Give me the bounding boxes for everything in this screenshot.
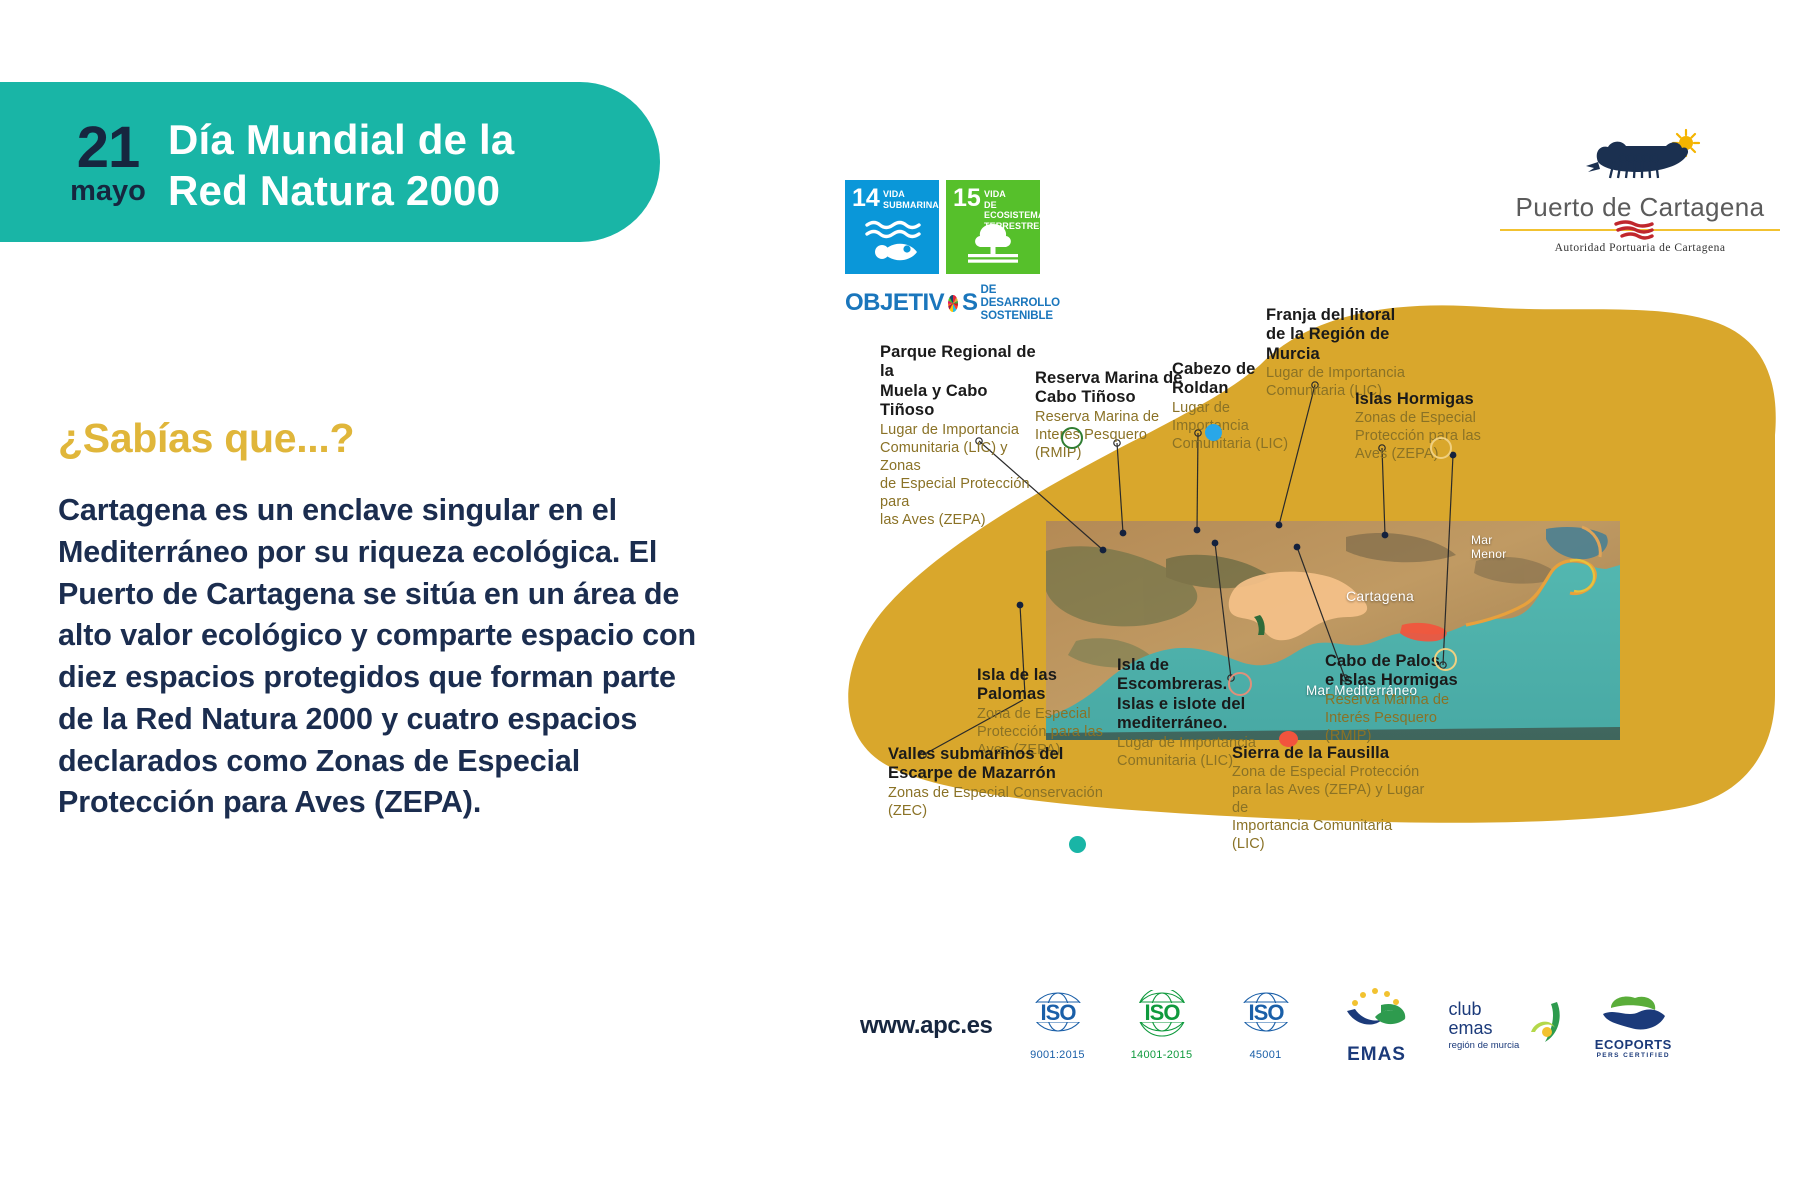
callout-title: Parque Regional de laMuela y Cabo Tiñoso (880, 343, 1045, 421)
callout-title: Isla de las Palomas (977, 666, 1127, 705)
callout-parque-regional-muela-cabo-tinoso: Parque Regional de laMuela y Cabo Tiñoso… (880, 343, 1045, 530)
callout-subtitle: Lugar de ImportanciaComunitaria (LIC) y … (880, 422, 1045, 530)
page-title: Día Mundial de la Red Natura 2000 (168, 114, 514, 216)
callout-subtitle: Reserva Marina deInterés Pesquero (RMIP) (1035, 409, 1195, 463)
port-logo-subtitle: Autoridad Portuaria de Cartagena (1490, 242, 1790, 254)
website-url[interactable]: www.apc.es (860, 1012, 993, 1040)
cert-label: ECOPORTS (1591, 1037, 1675, 1052)
callout-title: Islas Hormigas (1355, 390, 1490, 409)
sdg-14-number: 14 (852, 186, 880, 211)
callout-sierra-de-la-fausilla: Sierra de la Fausilla Zona de Especial P… (1232, 744, 1427, 854)
svg-text:ISO: ISO (1248, 1000, 1284, 1025)
callout-title: Sierra de la Fausilla (1232, 744, 1427, 763)
cert-iso-9001: ISO 9001:2015 (1019, 990, 1097, 1061)
cert-label: 14001-2015 (1123, 1049, 1201, 1061)
svg-text:ISO: ISO (1144, 1000, 1180, 1025)
marker-dot-sierra-de-la-fausilla (1279, 731, 1298, 747)
callout-title: Reserva Marina deCabo Tiñoso (1035, 369, 1195, 408)
sdg-goal-14-card: 14 VIDA SUBMARINA (845, 180, 939, 274)
port-authority-logo: Puerto de Cartagena Autoridad Portuaria … (1490, 128, 1790, 254)
cert-label: EMAS (1331, 1044, 1423, 1066)
callout-subtitle: Lugar de ImportanciaComunitaria (LIC) (1172, 400, 1302, 454)
callout-title: Valles submarinos delEscarpe de Mazarrón (888, 745, 1103, 784)
marker-ring-reserva-marina (1061, 427, 1083, 449)
footer-bar: www.apc.es ISO 9001:2015 ISO 14001-2015 (860, 985, 1740, 1066)
red-wave-icon (1600, 218, 1680, 240)
sdg-14-label: VIDA SUBMARINA (883, 189, 939, 210)
tree-ground-icon (946, 221, 1040, 268)
callout-reserva-marina-cabo-tinoso: Reserva Marina deCabo Tiñoso Reserva Mar… (1035, 369, 1195, 463)
callout-subtitle: Zona de Especial Protecciónpara las Aves… (1232, 764, 1427, 854)
date-month: mayo (58, 177, 158, 206)
date-day: 21 (58, 120, 158, 175)
kicker-heading: ¿Sabías que...? (58, 415, 354, 462)
marker-dot-cabezo-de-roldan (1205, 424, 1222, 441)
cert-sublabel: región de murcia (1449, 1040, 1520, 1051)
port-logo-rule (1500, 229, 1780, 231)
marker-ring-isla-de-escombreras (1228, 672, 1252, 696)
callout-franja-litoral-region-murcia: Franja del litoralde la Región deMurcia … (1266, 306, 1416, 401)
cert-label: clubemas (1449, 1000, 1520, 1038)
marker-dot-isla-de-las-palomas (1069, 836, 1086, 853)
sdg-goal-15-card: 15 VIDA DE ECOSISTEMAS TERRESTRES (946, 180, 1040, 274)
cert-club-emas: clubemas región de murcia (1449, 1000, 1566, 1052)
cert-label: 9001:2015 (1019, 1049, 1097, 1061)
ecoports-mark-icon (1591, 992, 1675, 1032)
cert-iso-45001: ISO 45001 (1227, 990, 1305, 1061)
cert-emas: EMAS (1331, 985, 1423, 1066)
callout-subtitle: Zonas de Especial Conservación(ZEC) (888, 785, 1103, 821)
date-block: 21 mayo (58, 120, 158, 206)
callout-valles-submarinos-escarpe-mazarron: Valles submarinos delEscarpe de Mazarrón… (888, 745, 1103, 821)
map-label-mar-menor: MarMenor (1471, 534, 1507, 562)
body-paragraph: Cartagena es un enclave singular en el M… (58, 490, 718, 824)
galley-prow (1586, 162, 1600, 172)
svg-text:ISO: ISO (1040, 1000, 1076, 1025)
cert-label: 45001 (1227, 1049, 1305, 1061)
title-line-2: Red Natura 2000 (168, 165, 514, 216)
marker-ring-islas-hormigas (1430, 437, 1452, 459)
callout-islas-hormigas: Islas Hormigas Zonas de EspecialProtecci… (1355, 390, 1490, 464)
cert-iso-14001: ISO 14001-2015 (1123, 990, 1201, 1061)
callout-title: Franja del litoralde la Región deMurcia (1266, 306, 1416, 364)
callout-subtitle: Reserva Marina deInterés Pesquero(RMIP) (1325, 692, 1475, 746)
fish-waves-icon (845, 217, 939, 268)
marker-ring-cabo-de-palos (1434, 648, 1457, 671)
roman-galley-ship-icon (1490, 128, 1790, 190)
cert-ecoports: ECOPORTS PERS CERTIFIED (1591, 992, 1675, 1059)
map-label-cartagena: Cartagena (1346, 588, 1414, 604)
leaf-swirl-icon (1523, 1000, 1565, 1052)
title-line-1: Día Mundial de la (168, 114, 514, 165)
callout-subtitle: Zonas de EspecialProtección para lasAves… (1355, 410, 1490, 464)
sdg-15-number: 15 (953, 186, 981, 211)
eu-stars-icon (1352, 988, 1399, 1006)
cert-sublabel: PERS CERTIFIED (1591, 1052, 1675, 1059)
